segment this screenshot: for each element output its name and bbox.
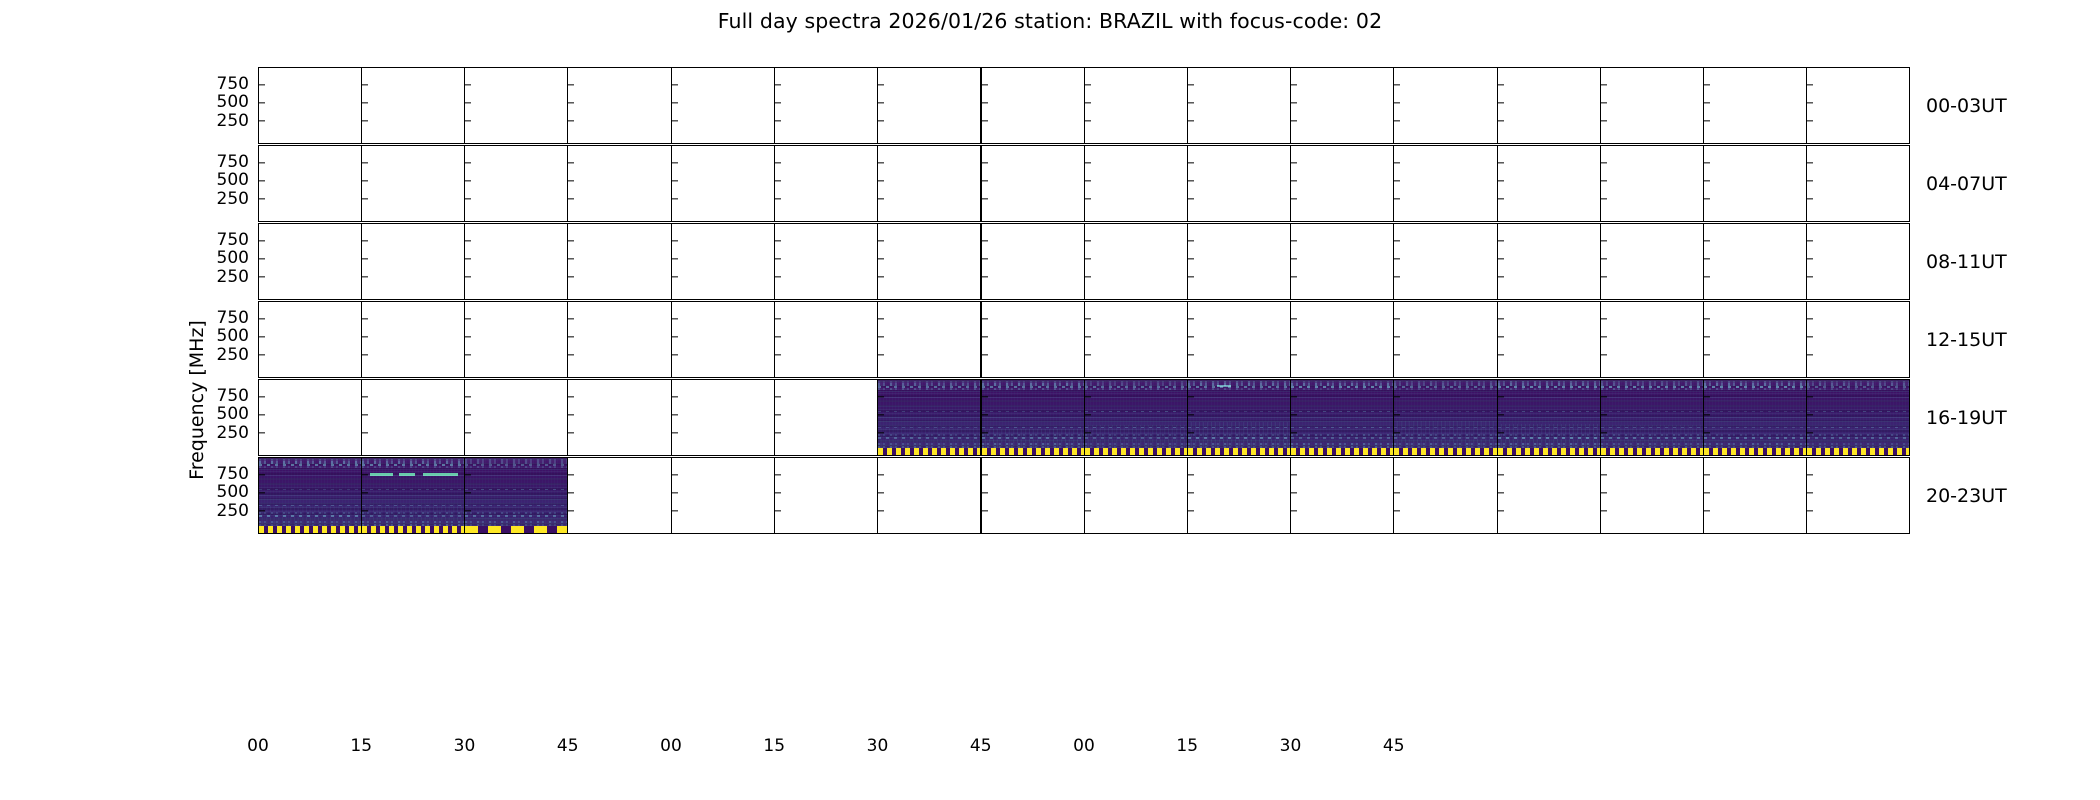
y-tick-mark	[1188, 414, 1194, 415]
y-tick-mark	[362, 318, 368, 319]
y-tick-mark	[1704, 474, 1710, 475]
y-tick-mark	[1704, 318, 1710, 319]
y-tick-mark	[1704, 198, 1710, 199]
subplot-cell[interactable]	[1498, 458, 1601, 533]
y-tick-mark	[1498, 162, 1504, 163]
subplot-cell[interactable]	[1394, 68, 1497, 143]
spectrogram-streak	[259, 499, 361, 500]
y-tick-mark	[1601, 396, 1607, 397]
y-tick-mark	[259, 258, 265, 259]
spectrogram-streak	[259, 469, 361, 470]
subplot-cell[interactable]	[362, 458, 465, 533]
subplot-cell[interactable]	[672, 458, 775, 533]
subplot-cell[interactable]	[1704, 146, 1807, 221]
calibration-bar	[1394, 448, 1496, 455]
spectrogram-streak	[1704, 440, 1806, 441]
spectrogram-burst	[370, 473, 392, 476]
y-tick-label: 250	[189, 267, 249, 287]
spectrogram-streak	[1498, 391, 1600, 392]
spectrogram-streak	[1807, 391, 1909, 392]
subplot-cell[interactable]	[1601, 224, 1704, 299]
subplot-cell[interactable]	[1704, 68, 1807, 143]
subplot-cell[interactable]	[982, 146, 1085, 221]
row-label-12-15ut: 12-15UT	[1926, 329, 2007, 351]
y-tick-mark	[465, 492, 471, 493]
y-tick-mark	[878, 84, 884, 85]
y-tick-mark	[1291, 414, 1297, 415]
calibration-bar	[1498, 448, 1600, 455]
y-tick-mark	[1394, 120, 1400, 121]
y-tick-mark	[1291, 492, 1297, 493]
subplot-cell[interactable]	[982, 68, 1085, 143]
y-tick-mark	[1807, 432, 1813, 433]
subplot-cell[interactable]	[1085, 302, 1188, 377]
subplot-row-20-23ut[interactable]	[258, 457, 1910, 534]
subplot-cell[interactable]	[465, 224, 568, 299]
y-tick-mark	[672, 414, 678, 415]
spectrogram-image	[1704, 380, 1806, 455]
y-tick-mark	[568, 240, 574, 241]
spectrogram-streak	[465, 469, 567, 470]
y-tick-mark	[878, 120, 884, 121]
subplot-cell[interactable]	[465, 68, 568, 143]
y-tick-mark	[982, 162, 988, 163]
y-tick-label: 250	[189, 111, 249, 131]
x-tick-label: 45	[1383, 736, 1405, 756]
y-tick-mark	[1807, 102, 1813, 103]
calibration-bar	[1291, 448, 1393, 455]
subplot-cell[interactable]	[1085, 380, 1188, 455]
y-tick-mark	[362, 510, 368, 511]
y-tick-mark	[259, 180, 265, 181]
subplot-cell[interactable]	[775, 146, 878, 221]
subplot-cell[interactable]	[1291, 68, 1394, 143]
subplot-cell[interactable]	[1394, 458, 1497, 533]
subplot-cell[interactable]	[775, 458, 878, 533]
subplot-cell[interactable]	[1188, 224, 1291, 299]
subplot-cell[interactable]	[1498, 380, 1601, 455]
subplot-cell[interactable]	[672, 146, 775, 221]
y-tick-mark	[465, 180, 471, 181]
y-tick-mark	[465, 354, 471, 355]
subplot-cell[interactable]	[1085, 224, 1188, 299]
y-tick-mark	[1807, 276, 1813, 277]
subplot-cell[interactable]	[362, 380, 465, 455]
y-tick-mark	[1601, 102, 1607, 103]
spectrogram-streak	[1085, 400, 1187, 401]
spectrogram-image	[1807, 380, 1909, 455]
y-tick-mark	[1085, 492, 1091, 493]
subplot-cell[interactable]	[1807, 380, 1909, 455]
y-tick-mark	[1498, 396, 1504, 397]
subplot-cell[interactable]	[1085, 146, 1188, 221]
spectrogram-streak	[1291, 421, 1393, 422]
subplot-cells	[259, 146, 1909, 221]
subplot-cell[interactable]	[259, 68, 362, 143]
y-tick-mark	[568, 432, 574, 433]
subplot-cell[interactable]	[1394, 302, 1497, 377]
subplot-cell[interactable]	[1291, 380, 1394, 455]
subplot-cell[interactable]	[1807, 458, 1909, 533]
y-tick-mark	[1704, 510, 1710, 511]
spectrogram-vertical-texture	[362, 504, 464, 521]
spectrogram-streak	[1704, 411, 1806, 412]
y-tick-label: 750	[189, 308, 249, 328]
spectrogram-image	[1188, 380, 1290, 455]
y-tick-mark	[1807, 162, 1813, 163]
y-tick-mark	[1807, 84, 1813, 85]
y-tick-mark	[568, 474, 574, 475]
y-tick-mark	[1188, 492, 1194, 493]
y-tick-mark	[878, 414, 884, 415]
spectrogram-streak	[1291, 397, 1393, 398]
y-tick-mark	[1085, 276, 1091, 277]
y-tick-mark	[1807, 198, 1813, 199]
subplot-cells	[259, 302, 1909, 377]
spectrogram-streak	[1601, 397, 1703, 398]
spectrogram-streak	[1291, 417, 1393, 418]
subplot-cell[interactable]	[1601, 302, 1704, 377]
y-tick-mark	[1188, 336, 1194, 337]
subplot-cell[interactable]	[982, 302, 1085, 377]
y-tick-mark	[672, 276, 678, 277]
y-tick-mark	[775, 180, 781, 181]
spectrogram-streak	[1704, 443, 1806, 445]
subplot-cell[interactable]	[259, 458, 362, 533]
subplot-cell[interactable]	[362, 146, 465, 221]
subplot-cell[interactable]	[1601, 68, 1704, 143]
subplot-cell[interactable]	[878, 224, 982, 299]
spectrogram-streak	[1291, 443, 1393, 445]
subplot-cell[interactable]	[1291, 146, 1394, 221]
subplot-cell[interactable]	[1394, 224, 1497, 299]
y-tick-label: 750	[189, 386, 249, 406]
y-tick-mark	[775, 474, 781, 475]
spectrogram-streak	[1704, 397, 1806, 398]
y-tick-label: 250	[189, 501, 249, 521]
subplot-cell[interactable]	[1085, 68, 1188, 143]
spectrogram-streak	[1291, 411, 1393, 412]
spectrogram-streak	[362, 495, 464, 496]
subplot-cell[interactable]	[259, 146, 362, 221]
y-tick-mark	[362, 492, 368, 493]
subplot-cell[interactable]	[568, 68, 671, 143]
subplot-cell[interactable]	[1188, 146, 1291, 221]
y-tick-mark	[1704, 276, 1710, 277]
y-tick-mark	[259, 102, 265, 103]
subplot-cell[interactable]	[878, 458, 982, 533]
spectrogram-vertical-texture	[1601, 425, 1703, 447]
spectrogram-streak	[1704, 417, 1806, 418]
x-tick-label: 00	[660, 736, 682, 756]
subplot-cell[interactable]	[672, 302, 775, 377]
y-tick-mark	[568, 510, 574, 511]
y-tick-mark	[672, 336, 678, 337]
subplot-cell[interactable]	[362, 68, 465, 143]
y-tick-mark	[775, 396, 781, 397]
y-tick-mark	[568, 120, 574, 121]
y-tick-mark	[1807, 414, 1813, 415]
y-tick-mark	[568, 180, 574, 181]
y-tick-mark	[982, 318, 988, 319]
subplot-cell[interactable]	[1394, 146, 1497, 221]
subplot-cell[interactable]	[465, 302, 568, 377]
y-tick-mark	[775, 492, 781, 493]
spectrogram-streak	[1704, 421, 1806, 422]
spectrogram-streak	[1188, 397, 1290, 398]
y-tick-mark	[1085, 84, 1091, 85]
subplot-cell[interactable]	[465, 380, 568, 455]
y-tick-label: 750	[189, 464, 249, 484]
y-tick-mark	[1601, 240, 1607, 241]
subplot-cell[interactable]	[1704, 458, 1807, 533]
y-tick-mark	[1188, 198, 1194, 199]
subplot-cell[interactable]	[1291, 224, 1394, 299]
subplot-cell[interactable]	[775, 224, 878, 299]
y-tick-mark	[1188, 180, 1194, 181]
y-tick-mark	[568, 162, 574, 163]
subplot-cell[interactable]	[1807, 302, 1909, 377]
spectrogram-streak	[259, 478, 361, 479]
y-tick-mark	[1188, 84, 1194, 85]
subplot-cell[interactable]	[878, 68, 982, 143]
y-tick-mark	[982, 396, 988, 397]
spectrogram-streak	[1807, 440, 1909, 441]
calibration-bar	[1807, 448, 1909, 455]
y-tick-mark	[362, 474, 368, 475]
spectrogram-streak	[1498, 421, 1600, 422]
y-tick-mark	[568, 318, 574, 319]
subplot-cell[interactable]	[259, 380, 362, 455]
subplot-cell[interactable]	[1291, 302, 1394, 377]
y-tick-mark	[1085, 396, 1091, 397]
subplot-cell[interactable]	[568, 458, 671, 533]
subplot-cell[interactable]	[672, 380, 775, 455]
y-tick-mark	[1498, 276, 1504, 277]
subplot-cell[interactable]	[1807, 68, 1909, 143]
y-tick-mark	[672, 180, 678, 181]
y-tick-mark	[775, 432, 781, 433]
spectrogram-streak	[465, 512, 567, 514]
y-tick-mark	[1291, 84, 1297, 85]
y-tick-mark	[1498, 84, 1504, 85]
subplot-cell[interactable]	[1704, 224, 1807, 299]
subplot-row-16-19ut[interactable]	[258, 379, 1910, 456]
subplot-cell[interactable]	[1807, 146, 1909, 221]
y-tick-mark	[465, 102, 471, 103]
y-tick-mark	[878, 474, 884, 475]
y-tick-mark	[1704, 354, 1710, 355]
subplot-cell[interactable]	[1807, 224, 1909, 299]
spectrogram-streak	[362, 478, 464, 479]
spectrogram-streak	[1291, 400, 1393, 401]
spectrogram-streak	[259, 495, 361, 496]
y-tick-mark	[259, 240, 265, 241]
spectrogram-streak	[1601, 417, 1703, 418]
y-tick-mark	[1291, 354, 1297, 355]
y-tick-mark	[259, 510, 265, 511]
y-tick-mark	[982, 198, 988, 199]
subplot-cell[interactable]	[1188, 380, 1291, 455]
subplot-cell[interactable]	[465, 458, 568, 533]
subplot-cells	[259, 458, 1909, 533]
spectrogram-streak	[1601, 400, 1703, 401]
subplot-cell[interactable]	[775, 68, 878, 143]
subplot-cell[interactable]	[465, 146, 568, 221]
row-label-08-11ut: 08-11UT	[1926, 251, 2007, 273]
spectrogram-streak	[1807, 400, 1909, 401]
subplot-cell[interactable]	[672, 68, 775, 143]
y-tick-mark	[1807, 336, 1813, 337]
y-tick-mark	[1085, 432, 1091, 433]
y-tick-mark	[568, 396, 574, 397]
y-tick-mark	[259, 84, 265, 85]
y-tick-mark	[259, 336, 265, 337]
subplot-cell[interactable]	[982, 380, 1085, 455]
y-tick-mark	[1394, 318, 1400, 319]
subplot-cell[interactable]	[1704, 302, 1807, 377]
subplot-cell[interactable]	[1601, 146, 1704, 221]
y-tick-mark	[465, 258, 471, 259]
calibration-bar	[465, 526, 567, 533]
y-tick-mark	[775, 102, 781, 103]
calibration-bar	[1085, 448, 1187, 455]
y-tick-mark	[775, 240, 781, 241]
spectrogram-streak	[362, 469, 464, 470]
y-tick-mark	[878, 162, 884, 163]
spectrogram-image	[1601, 380, 1703, 455]
y-tick-mark	[1188, 474, 1194, 475]
subplot-row-12-15ut[interactable]	[258, 301, 1910, 378]
spectrogram-streak	[982, 397, 1084, 398]
subplot-cell[interactable]	[1498, 68, 1601, 143]
y-tick-mark	[362, 336, 368, 337]
y-tick-mark	[1188, 396, 1194, 397]
subplot-cell[interactable]	[982, 458, 1085, 533]
y-tick-mark	[1601, 258, 1607, 259]
spectrogram-streak	[465, 478, 567, 479]
subplot-cell[interactable]	[1085, 458, 1188, 533]
subplot-cell[interactable]	[1188, 458, 1291, 533]
subplot-row-08-11ut[interactable]	[258, 223, 1910, 300]
subplot-cell[interactable]	[1291, 458, 1394, 533]
y-tick-mark	[1394, 198, 1400, 199]
spectrogram-streak	[465, 521, 567, 523]
subplot-cell[interactable]	[362, 302, 465, 377]
spectrogram-streak	[1498, 411, 1600, 412]
calibration-bar	[1704, 448, 1806, 455]
y-tick-mark	[982, 336, 988, 337]
subplot-cell[interactable]	[1601, 380, 1704, 455]
y-tick-mark	[1085, 258, 1091, 259]
y-tick-mark	[982, 84, 988, 85]
subplot-cell[interactable]	[568, 224, 671, 299]
spectrogram-image	[1498, 380, 1600, 455]
subplot-cell[interactable]	[568, 146, 671, 221]
spectrogram-streak	[982, 391, 1084, 392]
subplot-cell[interactable]	[1704, 380, 1807, 455]
spectrogram-streak	[1807, 417, 1909, 418]
subplot-cell[interactable]	[878, 380, 982, 455]
subplot-cell[interactable]	[259, 224, 362, 299]
spectrogram-streak	[259, 489, 361, 490]
subplot-cell[interactable]	[1498, 302, 1601, 377]
y-tick-mark	[672, 240, 678, 241]
subplot-row-00-03ut[interactable]	[258, 67, 1910, 144]
y-tick-mark	[465, 396, 471, 397]
y-tick-mark	[1291, 432, 1297, 433]
y-tick-mark	[1188, 240, 1194, 241]
subplot-cell[interactable]	[878, 146, 982, 221]
y-tick-mark	[1807, 120, 1813, 121]
subplot-cell[interactable]	[1601, 458, 1704, 533]
subplot-cell[interactable]	[568, 380, 671, 455]
subplot-cell[interactable]	[1394, 380, 1497, 455]
y-tick-mark	[672, 474, 678, 475]
y-tick-mark	[1807, 180, 1813, 181]
subplot-cell[interactable]	[878, 302, 982, 377]
spectrogram-streak	[1394, 411, 1496, 412]
subplot-cell[interactable]	[1188, 302, 1291, 377]
y-tick-mark	[1704, 432, 1710, 433]
x-tick-label: 00	[1073, 736, 1095, 756]
y-tick-mark	[1601, 510, 1607, 511]
y-tick-label: 750	[189, 152, 249, 172]
y-tick-mark	[1291, 510, 1297, 511]
spectrogram-streak	[1085, 397, 1187, 398]
y-tick-mark	[982, 258, 988, 259]
spectrogram-vertical-texture	[1085, 425, 1187, 448]
y-tick-mark	[362, 198, 368, 199]
spectrogram-streak	[259, 484, 361, 485]
y-tick-mark	[982, 510, 988, 511]
y-tick-mark	[982, 432, 988, 433]
spectrogram-streak	[1807, 421, 1909, 422]
y-tick-mark	[1807, 354, 1813, 355]
y-tick-mark	[568, 492, 574, 493]
subplot-cell[interactable]	[775, 302, 878, 377]
subplot-row-04-07ut[interactable]	[258, 145, 1910, 222]
y-tick-mark	[568, 336, 574, 337]
subplot-cell[interactable]	[672, 224, 775, 299]
subplot-cell[interactable]	[362, 224, 465, 299]
spectrogram-streak	[878, 397, 980, 398]
spectrogram-streak	[1601, 391, 1703, 392]
row-label-00-03ut: 00-03UT	[1926, 95, 2007, 117]
subplot-cell[interactable]	[259, 302, 362, 377]
y-tick-mark	[1704, 492, 1710, 493]
y-tick-mark	[672, 102, 678, 103]
spectrogram-streak	[1188, 391, 1290, 392]
y-tick-mark	[672, 510, 678, 511]
subplot-cell[interactable]	[775, 380, 878, 455]
subplot-cell[interactable]	[1498, 224, 1601, 299]
y-tick-mark	[672, 354, 678, 355]
y-tick-mark	[1291, 102, 1297, 103]
y-tick-mark	[568, 354, 574, 355]
y-tick-mark	[878, 318, 884, 319]
y-tick-mark	[1807, 258, 1813, 259]
subplot-cell[interactable]	[1498, 146, 1601, 221]
x-tick-label: 15	[1176, 736, 1198, 756]
y-tick-mark	[1085, 336, 1091, 337]
subplot-cells	[259, 224, 1909, 299]
y-tick-mark	[1394, 474, 1400, 475]
subplot-cell[interactable]	[568, 302, 671, 377]
subplot-cell[interactable]	[982, 224, 1085, 299]
y-tick-mark	[362, 162, 368, 163]
subplot-cell[interactable]	[1188, 68, 1291, 143]
